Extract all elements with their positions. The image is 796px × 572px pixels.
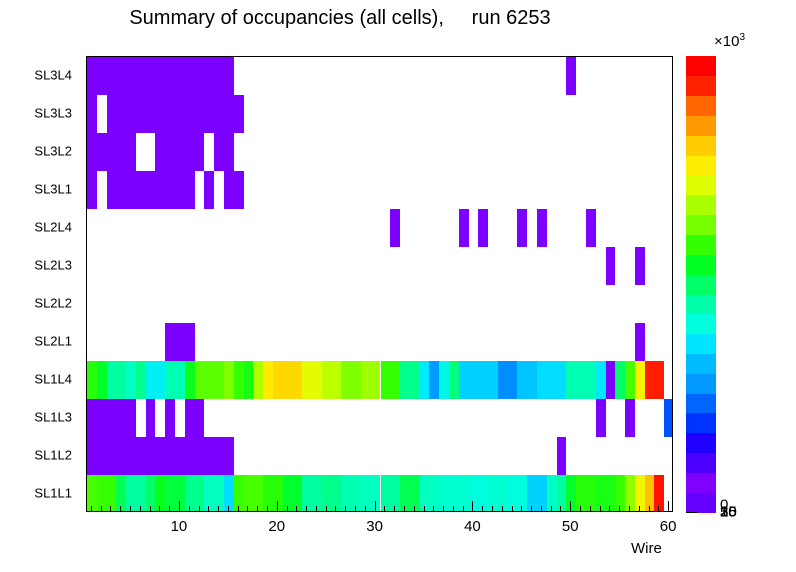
heatmap-cell <box>654 475 664 512</box>
heatmap-cell <box>606 247 616 285</box>
y-axis-label: SL2L1 <box>34 334 72 349</box>
x-axis-minor-tick <box>199 506 200 512</box>
x-axis-minor-tick <box>287 506 288 512</box>
heatmap-cell <box>439 361 449 399</box>
x-axis-minor-tick <box>384 506 385 512</box>
colorbar-segment <box>686 254 716 274</box>
x-axis-minor-tick <box>482 506 483 512</box>
heatmap-cell <box>625 361 635 399</box>
x-axis-minor-tick <box>238 506 239 512</box>
x-axis-minor-tick <box>619 506 620 512</box>
heatmap-cell <box>224 361 234 399</box>
heatmap-cell <box>185 361 195 399</box>
colorbar-segment <box>686 393 716 413</box>
x-axis-minor-tick <box>306 506 307 512</box>
x-axis-minor-tick <box>169 506 170 512</box>
x-axis-minor-tick <box>463 506 464 512</box>
y-axis-label: SL3L1 <box>34 182 72 197</box>
x-axis-minor-tick <box>296 506 297 512</box>
heatmap-cell <box>234 475 244 512</box>
heatmap-cell <box>517 361 537 399</box>
colorbar-segment <box>686 96 716 116</box>
x-axis-major-tick <box>668 501 669 512</box>
colorbar-segment <box>686 56 716 76</box>
heatmap-cell <box>459 361 498 399</box>
heatmap-cell <box>566 475 576 512</box>
heatmap-cell <box>116 475 126 512</box>
x-axis-minor-tick <box>639 506 640 512</box>
colorbar[interactable] <box>686 56 716 512</box>
heatmap-cell <box>165 399 175 437</box>
x-axis-minor-tick <box>101 506 102 512</box>
x-axis-minor-tick <box>658 506 659 512</box>
x-axis-tick-label: 10 <box>171 518 188 535</box>
x-axis-minor-tick <box>257 506 258 512</box>
x-axis-minor-tick <box>247 506 248 512</box>
x-axis-major-tick <box>570 501 571 512</box>
heatmap-cell <box>566 361 595 399</box>
colorbar-exponent-label: ×103 <box>714 32 745 50</box>
x-axis-minor-tick <box>120 506 121 512</box>
heatmap-cell <box>557 437 567 475</box>
heatmap-cell <box>204 171 214 209</box>
x-axis-minor-tick <box>629 506 630 512</box>
x-axis-tick-label: 20 <box>268 518 285 535</box>
x-axis-minor-tick <box>512 506 513 512</box>
heatmap-cell <box>429 361 439 399</box>
root-canvas: Summary of occupancies (all cells), run … <box>0 0 796 572</box>
heatmap-cell <box>107 95 234 133</box>
x-axis-minor-tick <box>424 506 425 512</box>
heatmap-cell <box>498 361 518 399</box>
heatmap-cell <box>126 361 136 399</box>
heatmap-cell <box>635 475 645 512</box>
y-axis-label: SL2L3 <box>34 258 72 273</box>
x-axis-tick-label: 60 <box>660 518 677 535</box>
heatmap-cell <box>146 475 156 512</box>
y-axis-label: SL2L4 <box>34 220 72 235</box>
heatmap-cell <box>263 361 273 399</box>
heatmap-cell <box>537 209 547 247</box>
colorbar-segment <box>686 353 716 373</box>
heatmap-cell <box>361 361 381 399</box>
heatmap-cell <box>645 361 665 399</box>
x-axis-minor-tick <box>433 506 434 512</box>
x-axis-minor-tick <box>394 506 395 512</box>
heatmap-cell <box>322 361 342 399</box>
heatmap-cell <box>566 57 576 95</box>
colorbar-tick <box>686 512 697 513</box>
heatmap-cell <box>146 361 166 399</box>
heatmap-cell <box>214 133 234 171</box>
x-axis-minor-tick <box>159 506 160 512</box>
heatmap-cell <box>107 171 195 209</box>
heatmap-cell <box>547 475 557 512</box>
heatmap-cell <box>224 475 234 512</box>
heatmap-cell <box>459 209 469 247</box>
x-axis-minor-tick <box>453 506 454 512</box>
heatmap-cell <box>517 209 527 247</box>
heatmap-cell <box>87 399 136 437</box>
x-axis-minor-tick <box>443 506 444 512</box>
heatmap-cell <box>136 361 146 399</box>
y-axis-label: SL3L4 <box>34 68 72 83</box>
x-axis-minor-tick <box>609 506 610 512</box>
x-axis-title: Wire <box>631 540 662 557</box>
heatmap-cell <box>381 361 401 399</box>
colorbar-segment <box>686 453 716 473</box>
heatmap-cell <box>645 475 655 512</box>
x-axis-major-tick <box>375 501 376 512</box>
heatmap-cell <box>244 361 254 399</box>
colorbar-segment <box>686 175 716 195</box>
heatmap-cell <box>341 361 361 399</box>
x-axis-minor-tick <box>345 506 346 512</box>
y-axis-label: SL3L3 <box>34 106 72 121</box>
colorbar-segment <box>686 195 716 215</box>
x-axis-minor-tick <box>316 506 317 512</box>
heatmap-cell <box>146 399 156 437</box>
heatmap-cells <box>87 57 672 511</box>
colorbar-segment <box>686 413 716 433</box>
x-axis-minor-tick <box>521 506 522 512</box>
y-axis-label: SL1L3 <box>34 410 72 425</box>
x-axis-minor-tick <box>492 506 493 512</box>
colorbar-segment <box>686 155 716 175</box>
heatmap-cell <box>87 133 136 171</box>
colorbar-segment <box>686 135 716 155</box>
heatmap-cell <box>155 133 204 171</box>
colorbar-segment <box>686 294 716 314</box>
colorbar-segment <box>686 314 716 334</box>
heatmap-cell <box>635 323 645 361</box>
x-axis-minor-tick <box>502 506 503 512</box>
colorbar-segment <box>686 215 716 235</box>
heatmap-cell <box>234 361 244 399</box>
colorbar-segment <box>686 433 716 453</box>
colorbar-segment <box>686 373 716 393</box>
heatmap-cell <box>165 323 194 361</box>
heatmap-cell <box>224 171 244 209</box>
x-axis-minor-tick <box>335 506 336 512</box>
y-axis-labels: SL3L4SL3L3SL3L2SL3L1SL2L4SL2L3SL2L2SL2L1… <box>0 56 80 512</box>
x-axis-tick-label: 40 <box>464 518 481 535</box>
heatmap-cell <box>390 209 400 247</box>
x-axis-minor-tick <box>365 506 366 512</box>
heatmap-cell <box>635 361 645 399</box>
heatmap-cell <box>596 399 606 437</box>
heatmap-plot-area[interactable] <box>86 56 673 512</box>
x-axis-major-tick <box>472 501 473 512</box>
x-axis-tick-label: 50 <box>562 518 579 535</box>
x-axis-minor-tick <box>600 506 601 512</box>
colorbar-segment <box>686 472 716 492</box>
x-axis-minor-tick <box>590 506 591 512</box>
colorbar-tick-label: 35 <box>720 503 737 520</box>
x-axis-minor-tick <box>560 506 561 512</box>
heatmap-cell <box>302 361 322 399</box>
heatmap-cell <box>107 361 127 399</box>
x-axis-minor-tick <box>649 506 650 512</box>
heatmap-cell <box>615 475 625 512</box>
heatmap-cell <box>664 399 673 437</box>
x-axis-minor-tick <box>130 506 131 512</box>
x-axis-minor-tick <box>326 506 327 512</box>
colorbar-segment <box>686 115 716 135</box>
colorbar-segment <box>686 234 716 254</box>
heatmap-cell <box>87 57 234 95</box>
y-axis-label: SL2L2 <box>34 296 72 311</box>
heatmap-cell <box>420 361 430 399</box>
heatmap-cell <box>400 361 420 399</box>
x-axis-minor-tick <box>355 506 356 512</box>
x-axis-minor-tick <box>551 506 552 512</box>
x-axis-tick-label: 30 <box>366 518 383 535</box>
heatmap-cell <box>596 361 606 399</box>
heatmap-cell <box>87 437 234 475</box>
heatmap-cell <box>273 361 302 399</box>
heatmap-cell <box>625 475 635 512</box>
x-axis-major-tick <box>277 501 278 512</box>
x-axis-minor-tick <box>414 506 415 512</box>
heatmap-cell <box>253 361 263 399</box>
y-axis-label: SL1L4 <box>34 372 72 387</box>
x-axis-major-tick <box>179 501 180 512</box>
heatmap-cell <box>87 95 97 133</box>
x-axis-minor-tick <box>189 506 190 512</box>
x-axis-minor-tick <box>110 506 111 512</box>
heatmap-cell <box>586 209 596 247</box>
heatmap-cell <box>234 95 244 133</box>
colorbar-exponent-base: ×10 <box>714 33 739 50</box>
x-axis-minor-tick <box>267 506 268 512</box>
heatmap-cell <box>87 171 97 209</box>
colorbar-segment <box>686 334 716 354</box>
heatmap-cell <box>478 209 488 247</box>
heatmap-cell <box>635 247 645 285</box>
x-axis-minor-tick <box>150 506 151 512</box>
heatmap-cell <box>87 475 97 512</box>
heatmap-cell <box>557 475 567 512</box>
heatmap-cell <box>185 399 205 437</box>
heatmap-cell <box>606 361 616 399</box>
colorbar-segment <box>686 76 716 96</box>
y-axis-label: SL1L1 <box>34 486 72 501</box>
x-axis-minor-tick <box>218 506 219 512</box>
heatmap-cell <box>165 361 185 399</box>
colorbar-segment <box>686 274 716 294</box>
heatmap-cell <box>195 361 224 399</box>
heatmap-cell <box>625 399 635 437</box>
x-axis-minor-tick <box>531 506 532 512</box>
x-axis-minor-tick <box>228 506 229 512</box>
y-axis-label: SL3L2 <box>34 144 72 159</box>
x-axis-minor-tick <box>140 506 141 512</box>
page-title: Summary of occupancies (all cells), run … <box>0 7 680 30</box>
x-axis-minor-tick <box>541 506 542 512</box>
heatmap-cell <box>537 361 566 399</box>
colorbar-exponent-power: 3 <box>739 32 745 43</box>
colorbar-segment <box>686 492 716 512</box>
x-axis-minor-tick <box>404 506 405 512</box>
heatmap-cell <box>449 361 459 399</box>
heatmap-cell <box>97 361 107 399</box>
x-axis-minor-tick <box>208 506 209 512</box>
y-axis-label: SL1L2 <box>34 448 72 463</box>
heatmap-cell <box>87 361 97 399</box>
x-axis-minor-tick <box>91 506 92 512</box>
heatmap-cell <box>615 361 625 399</box>
x-axis-minor-tick <box>580 506 581 512</box>
